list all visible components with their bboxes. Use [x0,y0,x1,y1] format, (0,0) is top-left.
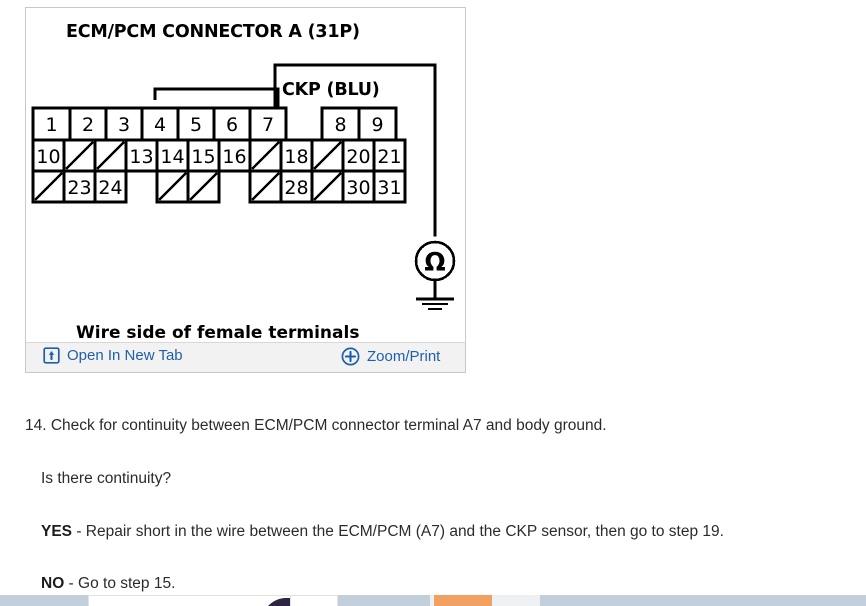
terminal-23: 23 [67,177,91,199]
answer-no-text: - Go to step 15. [64,575,175,592]
terminal-15: 15 [191,146,215,168]
terminal-9: 9 [371,114,383,136]
strip-mid-panel [338,595,430,606]
ohm-meter-glyph: Ω [424,247,445,276]
figure-canvas: ECM/PCM CONNECTOR A (31P) CKP (BLU) Wire… [26,8,465,342]
terminal-6: 6 [226,114,238,136]
terminal-20: 20 [346,146,370,168]
terminal-8: 8 [334,114,346,136]
terminal-18: 18 [284,146,308,168]
terminal-24: 24 [98,177,122,199]
terminal-5: 5 [190,114,202,136]
page-root: ECM/PCM CONNECTOR A (31P) CKP (BLU) Wire… [0,0,866,606]
terminal-14: 14 [160,146,184,168]
terminal-4: 4 [154,114,166,136]
terminal-13: 13 [129,146,153,168]
strip-right-panel-a [492,595,540,606]
bottom-partial-strip [0,595,866,606]
terminal-31: 31 [377,177,401,199]
answer-yes-key: YES [41,523,72,540]
open-in-new-tab-label: Open In New Tab [67,347,183,364]
figure-toolbar: Open In New Tab Zoom/Print [26,342,465,372]
connector-diagram: Ω 1 2 3 4 5 6 7 8 9 10 13 14 [26,8,465,342]
plus-circle-icon [341,347,360,366]
terminal-21: 21 [377,146,401,168]
answer-no-key: NO [41,575,64,592]
strip-center-card-right [290,595,338,606]
open-in-new-tab-button[interactable]: Open In New Tab [43,347,183,364]
terminal-1: 1 [45,114,57,136]
step-statement: 14. Check for continuity between ECM/PCM… [25,417,607,435]
question-line: Is there continuity? [41,470,171,488]
terminal-28: 28 [284,177,308,199]
terminal-30: 30 [346,177,370,199]
figure-card: ECM/PCM CONNECTOR A (31P) CKP (BLU) Wire… [25,7,466,373]
terminal-2: 2 [82,114,94,136]
answer-yes-text: - Repair short in the wire between the E… [72,523,724,540]
zoom-print-button[interactable]: Zoom/Print [341,347,440,366]
strip-accent-bar [434,595,492,606]
answer-yes: YES - Repair short in the wire between t… [41,523,724,541]
terminal-3: 3 [118,114,130,136]
open-in-new-tab-icon [43,347,60,364]
zoom-print-label: Zoom/Print [367,348,440,365]
strip-right-panel-b [540,595,866,606]
answer-no: NO - Go to step 15. [41,575,175,593]
strip-left-panel [0,595,88,606]
terminal-7: 7 [262,114,274,136]
terminal-16: 16 [222,146,246,168]
terminal-10: 10 [36,146,60,168]
